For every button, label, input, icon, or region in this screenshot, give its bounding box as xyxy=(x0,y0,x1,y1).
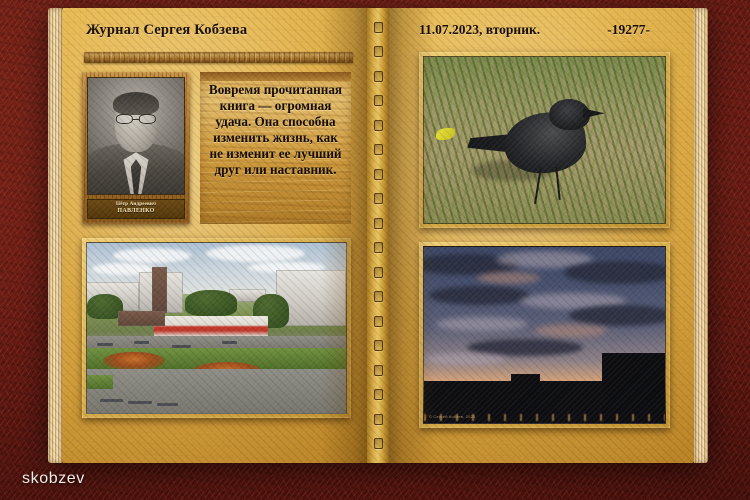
binding-ring xyxy=(374,242,383,253)
left-page-body: Пётр Андреевич ПАВЛЕНКО Вовремя прочитан… xyxy=(62,63,367,224)
shop-building xyxy=(154,316,268,336)
portrait-caption: Пётр Андреевич ПАВЛЕНКО xyxy=(87,199,185,219)
quote-panel: Вовремя прочитанная книга — огромная уда… xyxy=(200,72,351,224)
right-photo-column: © Сергей Кобзев, 2023 xyxy=(389,52,694,428)
binding-ring xyxy=(374,438,383,449)
bird-beak xyxy=(583,108,605,118)
entry-date: 11.07.2023, вторник. xyxy=(419,22,540,38)
binding-ring xyxy=(374,340,383,351)
cloud xyxy=(424,353,506,365)
glasses-bridge xyxy=(133,119,139,120)
bird-photo-frame xyxy=(419,52,670,228)
apartment-tower-silhouette xyxy=(602,353,665,423)
binding-ring xyxy=(374,218,383,229)
low-building xyxy=(118,311,165,326)
right-page: 11.07.2023, вторник. -19277- xyxy=(389,8,694,463)
portrait-card: Пётр Андреевич ПАВЛЕНКО xyxy=(82,72,190,224)
cloud xyxy=(564,261,666,284)
car xyxy=(172,345,190,348)
left-page: Журнал Сергея Кобзева xyxy=(62,8,367,463)
portrait-photo xyxy=(87,77,185,195)
page-edge-left xyxy=(48,8,62,463)
car xyxy=(157,403,178,406)
screenshot-root: Журнал Сергея Кобзева xyxy=(0,0,750,500)
binding-ring xyxy=(374,71,383,82)
binding-ring xyxy=(374,414,383,425)
left-photo-wrapper xyxy=(62,224,367,418)
cloud xyxy=(535,324,607,336)
yellow-leaf xyxy=(436,128,455,140)
cloud xyxy=(436,317,528,331)
binding-ring xyxy=(374,144,383,155)
cloud xyxy=(429,286,530,305)
cloud xyxy=(206,245,304,262)
cloud xyxy=(569,305,666,326)
quote-text: Вовремя прочитанная книга — огромная уда… xyxy=(208,82,343,179)
binding-ring xyxy=(374,365,383,376)
glasses-lens-left xyxy=(116,114,133,124)
car xyxy=(100,399,123,402)
glasses-icon xyxy=(116,114,156,124)
watermark: skobzev xyxy=(22,470,85,488)
city-photo-frame xyxy=(82,238,351,418)
title-divider-plank xyxy=(84,52,353,63)
city-roundabout-photo xyxy=(86,242,347,414)
page-edge-right xyxy=(694,8,708,463)
jackdaw-photo xyxy=(423,56,666,224)
car xyxy=(134,341,150,344)
binding-ring xyxy=(374,120,383,131)
binding-ring xyxy=(374,22,383,33)
glasses-lens-right xyxy=(139,114,156,124)
right-page-header: 11.07.2023, вторник. -19277- xyxy=(389,8,694,52)
cloud xyxy=(113,248,191,263)
portrait-hair xyxy=(113,92,159,115)
photo-album-book: Журнал Сергея Кобзева xyxy=(48,8,708,463)
cloud xyxy=(477,272,540,284)
dusk-sky-photo: © Сергей Кобзев, 2023 xyxy=(423,246,666,424)
spiral-binding xyxy=(367,8,389,463)
flowerbed xyxy=(103,352,165,371)
binding-ring xyxy=(374,46,383,57)
lawn xyxy=(87,375,113,389)
binding-ring xyxy=(374,291,383,302)
dusk-photo-frame: © Сергей Кобзев, 2023 xyxy=(419,242,670,428)
page-number: -19277- xyxy=(607,22,650,38)
car xyxy=(97,343,113,346)
roundabout-road xyxy=(87,369,346,413)
portrait-caption-surname: ПАВЛЕНКО xyxy=(89,208,183,215)
binding-ring xyxy=(374,169,383,180)
binding-ring xyxy=(374,193,383,204)
binding-ring xyxy=(374,316,383,327)
tree-cluster xyxy=(185,290,237,316)
car xyxy=(128,401,151,404)
binding-ring xyxy=(374,95,383,106)
car xyxy=(222,341,238,344)
page-title: Журнал Сергея Кобзева xyxy=(86,22,247,39)
photo-stamp: © Сергей Кобзев, 2023 xyxy=(429,414,476,419)
apartment-tower xyxy=(152,267,168,313)
binding-ring xyxy=(374,267,383,278)
binding-ring xyxy=(374,389,383,400)
left-page-header: Журнал Сергея Кобзева xyxy=(62,8,367,52)
bird-leg xyxy=(555,167,560,200)
